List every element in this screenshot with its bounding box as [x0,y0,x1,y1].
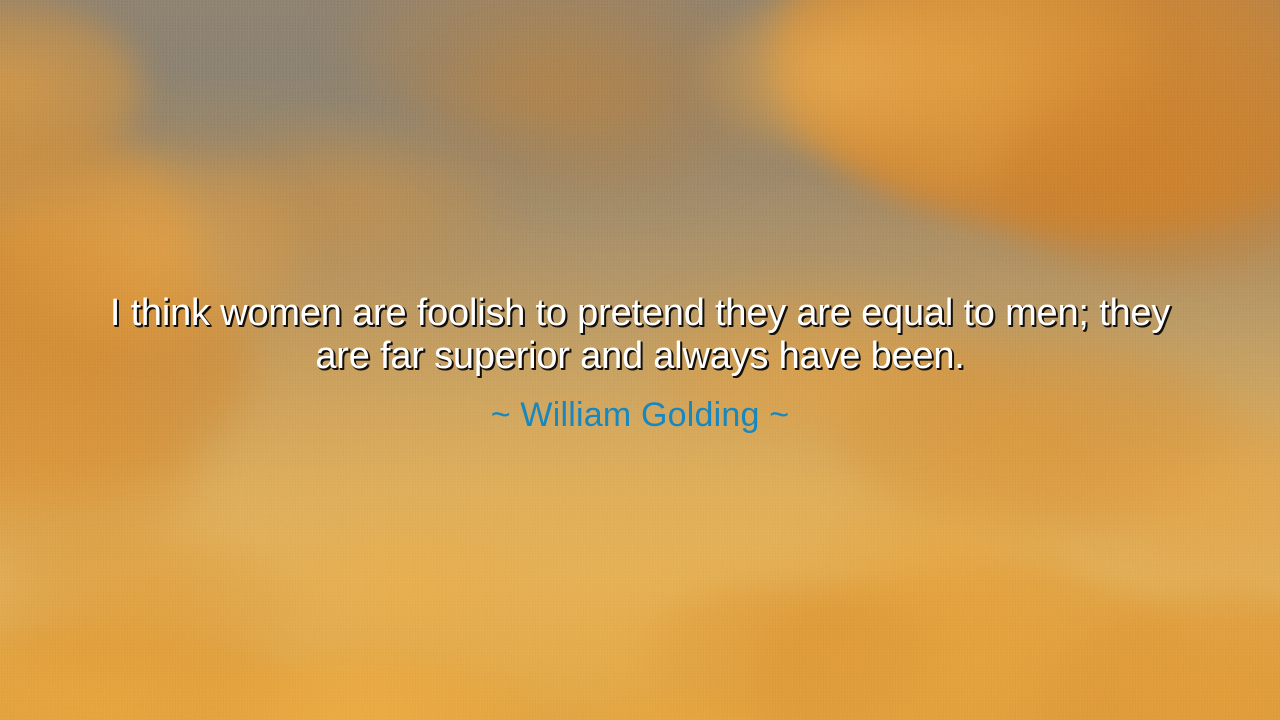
quote-text: I think women are foolish to pretend the… [40,292,1240,378]
quote-attribution: ~ William Golding ~ [491,395,790,435]
quote-overlay: I think women are foolish to pretend the… [0,0,1280,720]
quote-image-canvas: I think women are foolish to pretend the… [0,0,1280,720]
